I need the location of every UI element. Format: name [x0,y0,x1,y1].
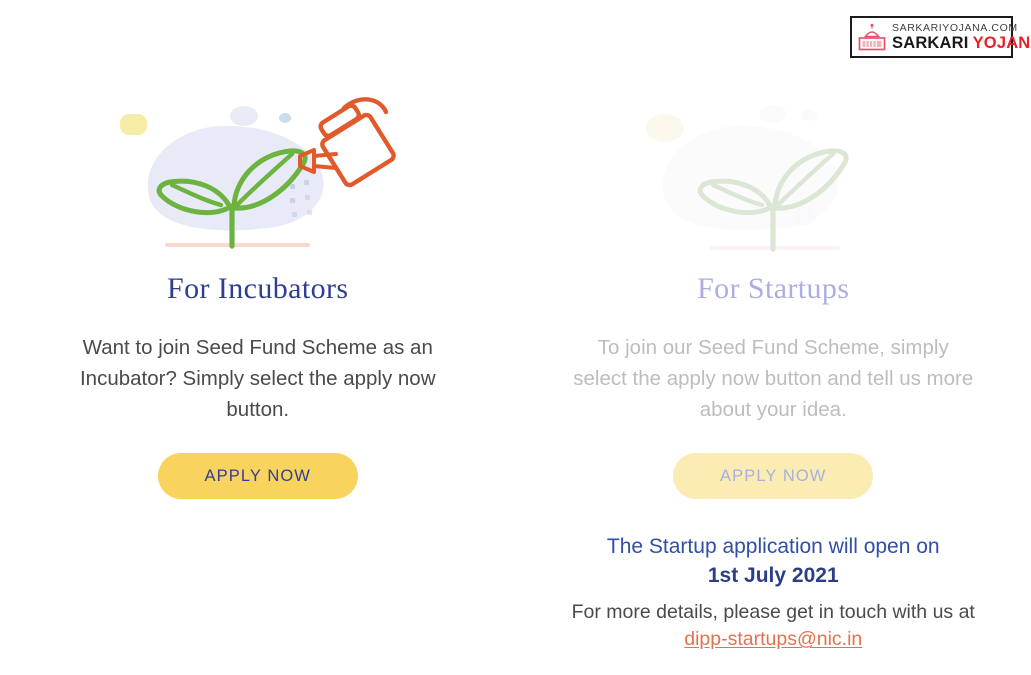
apply-columns: For Incubators Want to join Seed Fund Sc… [0,0,1031,675]
column-description-incubators: Want to join Seed Fund Scheme as an Incu… [58,332,458,425]
contact-email-link[interactable]: dipp-startups@nic.in [684,628,862,651]
plant-with-watering-can-illustration [108,88,408,260]
column-incubators: For Incubators Want to join Seed Fund Sc… [0,0,516,675]
notice-open-date: 1st July 2021 [538,561,1008,591]
plant-illustration-faded [623,88,923,260]
column-startups: For Startups To join our Seed Fund Schem… [516,0,1031,675]
column-heading-startups: For Startups [697,272,849,306]
apply-now-button-startups[interactable]: APPLY NOW [673,453,873,499]
apply-now-button-incubators[interactable]: APPLY NOW [158,453,358,499]
column-heading-incubators: For Incubators [167,272,348,306]
column-description-startups: To join our Seed Fund Scheme, simply sel… [573,332,973,425]
notice-open-line: The Startup application will open on [538,533,1008,561]
startup-notice: The Startup application will open on 1st… [538,533,1008,651]
notice-contact-line: For more details, please get in touch wi… [538,597,1008,627]
